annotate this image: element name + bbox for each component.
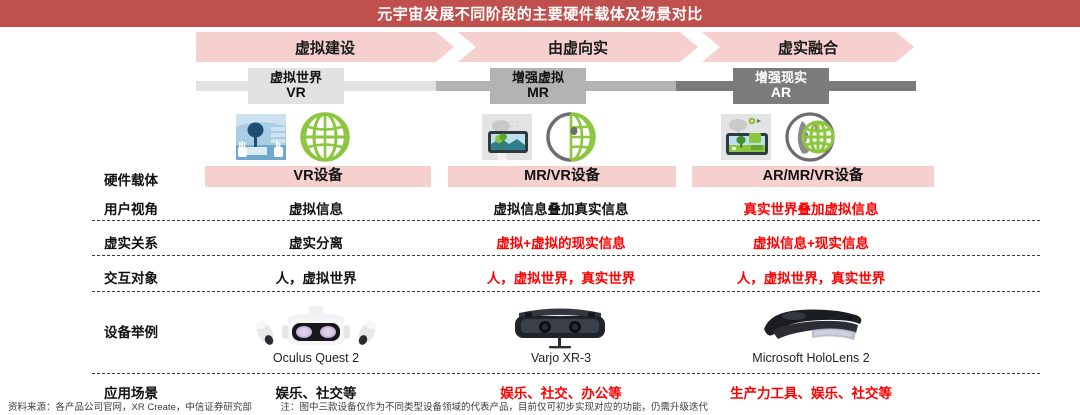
stage-label-2: 由虚向实: [548, 37, 608, 58]
stage-chevron-1: 虚拟建设: [196, 32, 454, 62]
device-type-box-vr: 虚拟世界 VR: [248, 68, 344, 104]
relation-cell-mr: 虚拟+虚拟的现实信息: [436, 232, 686, 252]
stage-label-3: 虚实融合: [778, 37, 838, 58]
varjo-xr-3-photo: [505, 305, 615, 349]
device-type-en-vr: VR: [286, 85, 305, 101]
table-row-interaction: 交互对象 人，虚拟世界 人，虚拟世界，真实世界 人，虚拟世界，真实世界: [0, 257, 1080, 293]
row-label-device-examples: 设备举例: [104, 321, 214, 341]
oculus-quest-2-photo: [246, 305, 386, 349]
device-caption-vr: Oculus Quest 2: [236, 351, 396, 365]
stage-chevron-2: 由虚向实: [458, 32, 698, 62]
microsoft-hololens-2-photo: [752, 303, 872, 349]
illustration-group-vr: [233, 108, 351, 166]
interaction-cell-mr: 人，虚拟世界，真实世界: [436, 267, 686, 287]
table-row-device-examples: 设备举例: [0, 293, 1080, 376]
page-title: 元宇宙发展不同阶段的主要硬件载体及场景对比: [377, 3, 703, 24]
footer-source: 资料来源：各产品公司官网，XR Create，中信证券研究部: [8, 402, 252, 413]
hardware-cell-mr: MR/VR设备: [448, 166, 676, 187]
illustration-group-mr: [479, 108, 597, 166]
row-divider-3: [92, 291, 1040, 292]
comparison-table: 硬件载体 VR设备 MR/VR设备 AR/MR/VR设备 用户视角 虚拟信息 虚…: [0, 166, 1080, 404]
stage-chevron-3: 虚实融合: [702, 32, 914, 62]
perspective-cell-mr: 虚拟信息叠加真实信息: [436, 198, 686, 218]
device-caption-mr: Varjo XR-3: [436, 351, 686, 365]
relation-cell-vr: 虚实分离: [196, 232, 436, 252]
earth-green-globe-icon: [784, 111, 836, 163]
device-caption-ar: Microsoft HoloLens 2: [686, 351, 936, 365]
stage-chevron-row: 虚拟建设 由虚向实 虚实融合: [0, 32, 1080, 62]
table-row-perspective: 用户视角 虚拟信息 虚拟信息叠加真实信息 真实世界叠加虚拟信息: [0, 192, 1080, 222]
device-type-en-ar: AR: [771, 85, 791, 101]
infographic-page: 元宇宙发展不同阶段的主要硬件载体及场景对比 虚拟建设 由虚向实 虚实融合 虚拟世…: [0, 0, 1080, 415]
device-type-cn-vr: 虚拟世界: [270, 71, 322, 86]
hardware-cell-ar: AR/MR/VR设备: [692, 166, 934, 187]
footer-note: 注：图中三款设备仅作为不同类型设备领域的代表产品，目前仅可初步实现对应的功能，仍…: [281, 402, 709, 413]
interaction-cell-ar: 人，虚拟世界，真实世界: [686, 267, 936, 287]
interaction-cell-vr: 人，虚拟世界: [196, 267, 436, 287]
footer: 资料来源：各产品公司官网，XR Create，中信证券研究部 注：图中三款设备仅…: [8, 399, 1072, 413]
device-type-cn-ar: 增强现实: [755, 71, 807, 86]
mr-tablet-scene-icon: [479, 111, 535, 163]
stage-label-1: 虚拟建设: [295, 37, 355, 58]
vr-room-scene-icon: [233, 111, 289, 163]
table-row-relation: 虚实关系 虚实分离 虚拟+虚拟的现实信息 虚拟信息+现实信息: [0, 222, 1080, 257]
illustration-row: [0, 108, 1080, 166]
device-type-en-mr: MR: [527, 85, 549, 101]
device-type-box-ar: 增强现实 AR: [733, 68, 829, 104]
illustration-group-ar: [718, 108, 836, 166]
row-divider-2: [92, 255, 1040, 256]
green-globe-icon: [299, 111, 351, 163]
perspective-cell-vr: 虚拟信息: [196, 198, 436, 218]
ar-tablet-scene-icon: [718, 111, 774, 163]
device-type-cn-mr: 增强虚拟: [512, 71, 564, 86]
relation-cell-ar: 虚拟信息+现实信息: [686, 232, 936, 252]
table-row-hardware: 硬件载体 VR设备 MR/VR设备 AR/MR/VR设备: [0, 166, 1080, 192]
row-divider-4: [92, 373, 1040, 374]
row-divider-1: [92, 220, 1040, 221]
device-type-box-mr: 增强虚拟 MR: [490, 68, 586, 104]
row-label-hardware: 硬件载体: [104, 169, 214, 189]
half-gray-green-globe-icon: [545, 111, 597, 163]
hardware-cell-vr: VR设备: [205, 166, 431, 187]
perspective-cell-ar: 真实世界叠加虚拟信息: [686, 198, 936, 218]
page-title-bar: 元宇宙发展不同阶段的主要硬件载体及场景对比: [0, 0, 1080, 27]
